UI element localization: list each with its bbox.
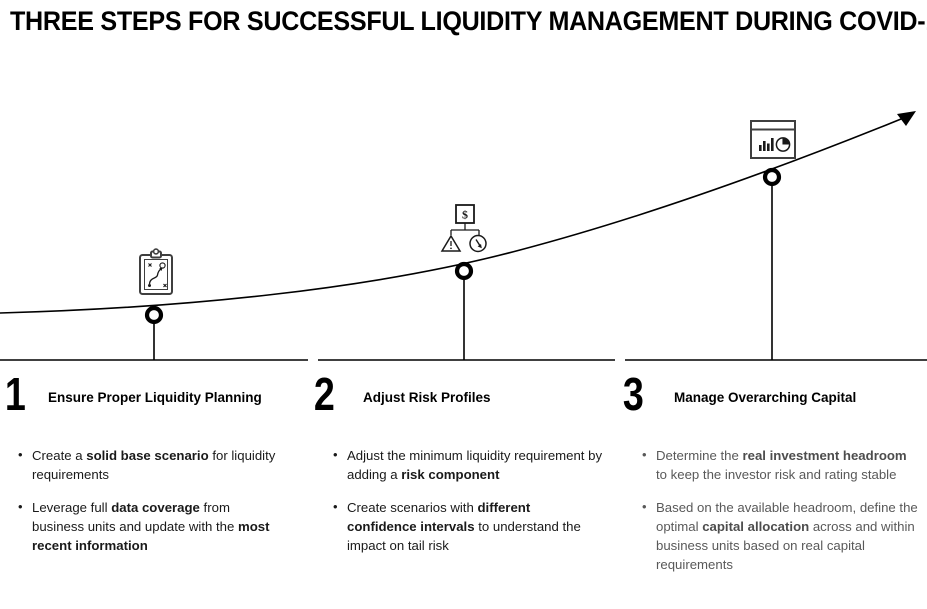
step-header-1: 1 Ensure Proper Liquidity Planning [0, 372, 295, 430]
step-number-2: 2 [309, 372, 347, 416]
step-bullets-2: Adjust the minimum liquidity requirement… [331, 446, 603, 555]
list-item: Based on the available headroom, define … [640, 498, 918, 574]
step-title-3: Manage Overarching Capital [664, 372, 856, 406]
list-item: Leverage full data coverage from busines… [16, 498, 284, 555]
step-title-1: Ensure Proper Liquidity Planning [46, 372, 262, 406]
milestone-node-3[interactable] [765, 170, 779, 184]
step-column-2: 2 Adjust Risk Profiles Adjust the minimu… [309, 372, 618, 588]
dashboard-chart-icon [749, 119, 797, 166]
step-column-3: 3 Manage Overarching Capital Determine t… [618, 372, 927, 588]
risk-tree-icon: $ [440, 203, 488, 260]
step-header-2: 2 Adjust Risk Profiles [309, 372, 604, 430]
list-item: Determine the real investment headroom t… [640, 446, 918, 484]
arrow-right-up-icon [897, 111, 916, 126]
clipboard-strategy-icon [134, 248, 178, 303]
timeline-graphic: $ [0, 0, 927, 380]
milestone-node-1[interactable] [147, 308, 161, 322]
step-bullets-1: Create a solid base scenario for liquidi… [16, 446, 284, 555]
step-bullets-3: Determine the real investment headroom t… [640, 446, 918, 574]
step-number-3: 3 [618, 372, 656, 416]
step-title-2: Adjust Risk Profiles [355, 372, 491, 406]
list-item: Create a solid base scenario for liquidi… [16, 446, 284, 484]
step-number-1: 1 [0, 372, 38, 416]
list-item: Create scenarios with different confiden… [331, 498, 603, 555]
step-column-1: 1 Ensure Proper Liquidity Planning Creat… [0, 372, 309, 588]
step-header-3: 3 Manage Overarching Capital [618, 372, 913, 430]
steps-container: 1 Ensure Proper Liquidity Planning Creat… [0, 372, 927, 588]
list-item: Adjust the minimum liquidity requirement… [331, 446, 603, 484]
svg-text:$: $ [462, 208, 468, 222]
milestone-node-2[interactable] [457, 264, 471, 278]
